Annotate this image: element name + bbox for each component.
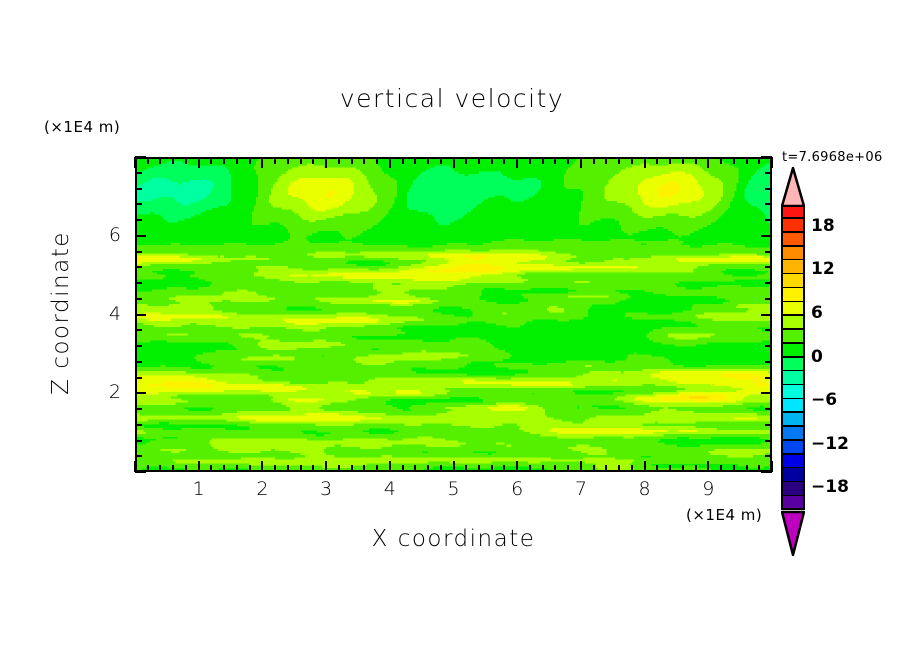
y-axis-unit-label: (×1E4 m) bbox=[44, 118, 120, 136]
y-tick bbox=[765, 345, 772, 347]
y-tick bbox=[135, 455, 142, 457]
x-tick bbox=[338, 157, 340, 164]
colorbar-cell bbox=[781, 247, 805, 261]
x-tick bbox=[554, 465, 556, 472]
x-tick bbox=[593, 465, 595, 472]
y-tick bbox=[765, 408, 772, 410]
y-tick bbox=[135, 266, 142, 268]
x-tick bbox=[414, 157, 416, 164]
x-tick-label: 3 bbox=[306, 478, 346, 500]
x-tick bbox=[707, 461, 709, 472]
y-tick bbox=[765, 455, 772, 457]
x-tick bbox=[720, 157, 722, 164]
y-tick-label: 4 bbox=[95, 303, 121, 325]
colorbar-cell bbox=[781, 468, 805, 482]
x-tick bbox=[172, 157, 174, 164]
x-tick bbox=[376, 157, 378, 164]
y-tick bbox=[135, 345, 142, 347]
y-tick bbox=[135, 156, 146, 158]
y-tick bbox=[135, 361, 142, 363]
y-tick bbox=[765, 440, 772, 442]
y-tick bbox=[135, 219, 142, 221]
x-tick bbox=[720, 465, 722, 472]
x-tick bbox=[453, 461, 455, 472]
x-tick bbox=[682, 157, 684, 164]
colorbar-cell bbox=[781, 288, 805, 302]
y-tick bbox=[135, 424, 142, 426]
colorbar-over-arrow bbox=[781, 167, 805, 205]
x-tick bbox=[312, 157, 314, 164]
x-tick bbox=[325, 461, 327, 472]
x-tick bbox=[605, 157, 607, 164]
x-tick bbox=[605, 465, 607, 472]
y-tick bbox=[765, 251, 772, 253]
y-tick bbox=[135, 188, 142, 190]
x-tick bbox=[580, 461, 582, 472]
colorbar-cell bbox=[781, 496, 805, 510]
x-tick bbox=[159, 465, 161, 472]
colorbar-tick-label: −18 bbox=[811, 477, 849, 497]
x-tick bbox=[631, 157, 633, 164]
x-tick bbox=[554, 157, 556, 164]
x-tick-label: 5 bbox=[434, 478, 474, 500]
x-tick bbox=[567, 157, 569, 164]
x-tick bbox=[325, 157, 327, 168]
x-tick bbox=[300, 465, 302, 472]
y-tick bbox=[765, 266, 772, 268]
figure-canvas: vertical velocity (×1E4 m) (×1E4 m) t=7.… bbox=[0, 0, 904, 654]
colorbar-tick-label: −6 bbox=[811, 390, 837, 410]
x-tick bbox=[427, 157, 429, 164]
x-tick bbox=[312, 465, 314, 472]
y-tick bbox=[135, 235, 146, 237]
y-tick bbox=[135, 314, 146, 316]
x-tick bbox=[287, 157, 289, 164]
x-tick bbox=[733, 157, 735, 164]
contour-field bbox=[135, 157, 772, 472]
x-tick bbox=[529, 465, 531, 472]
colorbar-cell bbox=[781, 219, 805, 233]
time-annotation: t=7.6968e+06 bbox=[782, 150, 883, 165]
y-tick bbox=[135, 392, 146, 394]
x-tick bbox=[210, 465, 212, 472]
y-tick bbox=[765, 424, 772, 426]
x-tick bbox=[414, 465, 416, 472]
x-axis-unit-label: (×1E4 m) bbox=[686, 506, 762, 524]
x-tick bbox=[274, 157, 276, 164]
x-tick bbox=[669, 157, 671, 164]
x-tick bbox=[159, 157, 161, 164]
x-tick bbox=[478, 465, 480, 472]
x-tick bbox=[147, 465, 149, 472]
x-tick bbox=[542, 157, 544, 164]
x-tick bbox=[389, 157, 391, 168]
x-tick bbox=[542, 465, 544, 472]
x-tick bbox=[631, 465, 633, 472]
x-axis-title: X coordinate bbox=[135, 526, 772, 552]
colorbar-cell bbox=[781, 427, 805, 441]
x-tick bbox=[147, 157, 149, 164]
y-tick bbox=[765, 298, 772, 300]
x-tick bbox=[707, 157, 709, 168]
x-tick bbox=[758, 157, 760, 164]
x-tick bbox=[236, 465, 238, 472]
x-tick bbox=[618, 465, 620, 472]
colorbar-tick-label: 18 bbox=[811, 216, 835, 236]
y-tick bbox=[135, 282, 142, 284]
x-tick bbox=[491, 157, 493, 164]
y-tick bbox=[761, 392, 772, 394]
colorbar-under-arrow bbox=[781, 510, 805, 554]
x-tick bbox=[593, 157, 595, 164]
x-tick-label: 8 bbox=[625, 478, 665, 500]
x-tick bbox=[746, 157, 748, 164]
colorbar-cell bbox=[781, 316, 805, 330]
x-tick bbox=[300, 157, 302, 164]
x-tick bbox=[529, 157, 531, 164]
x-tick bbox=[656, 157, 658, 164]
colorbar: 181260−6−12−18 bbox=[781, 205, 805, 510]
x-tick bbox=[210, 157, 212, 164]
x-tick bbox=[516, 157, 518, 168]
y-tick bbox=[765, 361, 772, 363]
x-tick-label: 1 bbox=[179, 478, 219, 500]
colorbar-cell bbox=[781, 274, 805, 288]
y-tick bbox=[135, 251, 142, 253]
x-tick bbox=[580, 157, 582, 168]
x-tick bbox=[389, 461, 391, 472]
chart-title: vertical velocity bbox=[0, 84, 904, 113]
y-tick bbox=[765, 172, 772, 174]
y-tick bbox=[765, 282, 772, 284]
x-tick bbox=[134, 157, 136, 168]
x-tick-label: 6 bbox=[497, 478, 537, 500]
colorbar-cell bbox=[781, 441, 805, 455]
colorbar-cell bbox=[781, 302, 805, 316]
colorbar-tick-label: 0 bbox=[811, 347, 823, 367]
colorbar-cell bbox=[781, 205, 805, 219]
x-tick bbox=[236, 157, 238, 164]
x-tick bbox=[644, 461, 646, 472]
x-tick bbox=[746, 465, 748, 472]
x-tick bbox=[274, 465, 276, 472]
y-tick bbox=[765, 377, 772, 379]
y-tick bbox=[135, 203, 142, 205]
x-tick bbox=[402, 465, 404, 472]
x-tick bbox=[465, 465, 467, 472]
x-tick bbox=[465, 157, 467, 164]
y-tick bbox=[135, 298, 142, 300]
y-tick bbox=[135, 329, 142, 331]
colorbar-cell bbox=[781, 399, 805, 413]
x-tick bbox=[644, 157, 646, 168]
colorbar-tick-label: 6 bbox=[811, 303, 823, 323]
y-tick bbox=[135, 440, 142, 442]
colorbar-cell bbox=[781, 330, 805, 344]
x-tick bbox=[223, 157, 225, 164]
x-tick bbox=[669, 465, 671, 472]
x-tick bbox=[503, 465, 505, 472]
colorbar-cell bbox=[781, 233, 805, 247]
y-tick bbox=[765, 219, 772, 221]
x-tick bbox=[363, 465, 365, 472]
colorbar-tick-label: 12 bbox=[811, 259, 835, 279]
x-tick bbox=[427, 465, 429, 472]
colorbar-cell bbox=[781, 482, 805, 496]
x-tick bbox=[261, 461, 263, 472]
x-tick bbox=[682, 465, 684, 472]
colorbar-cell bbox=[781, 385, 805, 399]
x-tick bbox=[491, 465, 493, 472]
x-tick bbox=[198, 461, 200, 472]
x-tick bbox=[287, 465, 289, 472]
x-tick bbox=[516, 461, 518, 472]
colorbar-tick-label: −12 bbox=[811, 434, 849, 454]
x-tick bbox=[771, 157, 773, 168]
x-tick bbox=[172, 465, 174, 472]
y-tick bbox=[135, 408, 142, 410]
plot-area bbox=[135, 157, 772, 472]
x-tick bbox=[376, 465, 378, 472]
x-tick-label: 7 bbox=[561, 478, 601, 500]
x-tick bbox=[223, 465, 225, 472]
colorbar-cell bbox=[781, 455, 805, 469]
x-tick bbox=[351, 465, 353, 472]
colorbar-cell bbox=[781, 260, 805, 274]
y-tick bbox=[761, 235, 772, 237]
x-tick bbox=[261, 157, 263, 168]
y-tick bbox=[135, 172, 142, 174]
y-tick-label: 6 bbox=[95, 224, 121, 246]
x-tick bbox=[478, 157, 480, 164]
y-axis-title: Z coordinate bbox=[48, 213, 74, 413]
y-tick bbox=[765, 329, 772, 331]
y-tick bbox=[761, 314, 772, 316]
x-tick bbox=[440, 157, 442, 164]
x-tick-label: 9 bbox=[688, 478, 728, 500]
x-tick bbox=[503, 157, 505, 164]
y-tick bbox=[765, 203, 772, 205]
x-tick bbox=[185, 157, 187, 164]
x-tick bbox=[656, 465, 658, 472]
x-tick bbox=[567, 465, 569, 472]
x-tick bbox=[618, 157, 620, 164]
y-tick bbox=[761, 471, 772, 473]
x-tick bbox=[733, 465, 735, 472]
x-tick-label: 2 bbox=[242, 478, 282, 500]
x-tick bbox=[695, 157, 697, 164]
x-tick bbox=[351, 157, 353, 164]
x-tick bbox=[453, 157, 455, 168]
x-tick bbox=[198, 157, 200, 168]
colorbar-cell bbox=[781, 344, 805, 358]
x-tick bbox=[440, 465, 442, 472]
colorbar-cell bbox=[781, 358, 805, 372]
y-tick bbox=[761, 156, 772, 158]
y-tick bbox=[765, 188, 772, 190]
y-tick bbox=[135, 377, 142, 379]
colorbar-cell bbox=[781, 413, 805, 427]
x-tick bbox=[249, 157, 251, 164]
x-tick bbox=[758, 465, 760, 472]
x-tick bbox=[695, 465, 697, 472]
x-tick bbox=[249, 465, 251, 472]
x-tick bbox=[402, 157, 404, 164]
x-tick-label: 4 bbox=[370, 478, 410, 500]
x-tick bbox=[185, 465, 187, 472]
x-tick bbox=[363, 157, 365, 164]
y-tick bbox=[135, 471, 146, 473]
colorbar-cell bbox=[781, 371, 805, 385]
y-tick-label: 2 bbox=[95, 381, 121, 403]
x-tick bbox=[338, 465, 340, 472]
